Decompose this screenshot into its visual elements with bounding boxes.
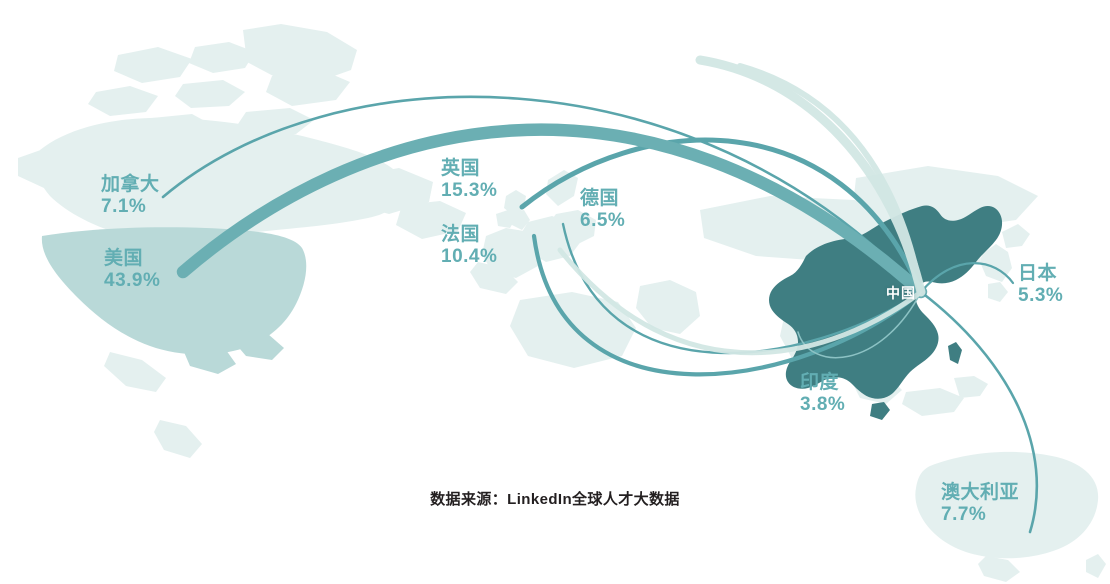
flow-label-us-name: 美国 <box>104 248 160 270</box>
flow-label-ca-name: 加拿大 <box>101 174 160 196</box>
flow-label-fr: 法国 10.4% <box>441 224 497 269</box>
flow-label-de-percent: 6.5% <box>580 210 625 232</box>
flow-label-in-percent: 3.8% <box>800 394 845 416</box>
flow-label-de: 德国 6.5% <box>580 188 625 233</box>
flow-label-uk: 英国 15.3% <box>441 158 497 203</box>
flow-label-uk-name: 英国 <box>441 158 497 180</box>
flow-label-fr-name: 法国 <box>441 224 497 246</box>
flow-label-ca: 加拿大 7.1% <box>101 174 160 219</box>
flow-label-us-percent: 43.9% <box>104 270 160 292</box>
flow-label-jp-name: 日本 <box>1018 263 1063 285</box>
flow-label-us: 美国 43.9% <box>104 248 160 293</box>
flow-label-in: 印度 3.8% <box>800 372 845 417</box>
flow-label-fr-percent: 10.4% <box>441 246 497 268</box>
flow-map-figure: 美国 43.9% 英国 15.3% 法国 10.4% 澳大利亚 7.7% 加拿大… <box>0 0 1110 584</box>
flow-label-de-name: 德国 <box>580 188 625 210</box>
flow-label-jp: 日本 5.3% <box>1018 263 1063 308</box>
hub-label-china: 中国 <box>886 283 916 303</box>
source-note: 数据来源：LinkedIn全球人才大数据 <box>0 488 1110 509</box>
flow-label-in-name: 印度 <box>800 372 845 394</box>
flow-curves <box>163 97 1037 532</box>
flow-label-jp-percent: 5.3% <box>1018 285 1063 307</box>
flow-label-ca-percent: 7.1% <box>101 196 160 218</box>
flow-label-uk-percent: 15.3% <box>441 180 497 202</box>
flow-curve-us <box>183 130 921 292</box>
flow-curve-jp <box>921 263 1013 292</box>
